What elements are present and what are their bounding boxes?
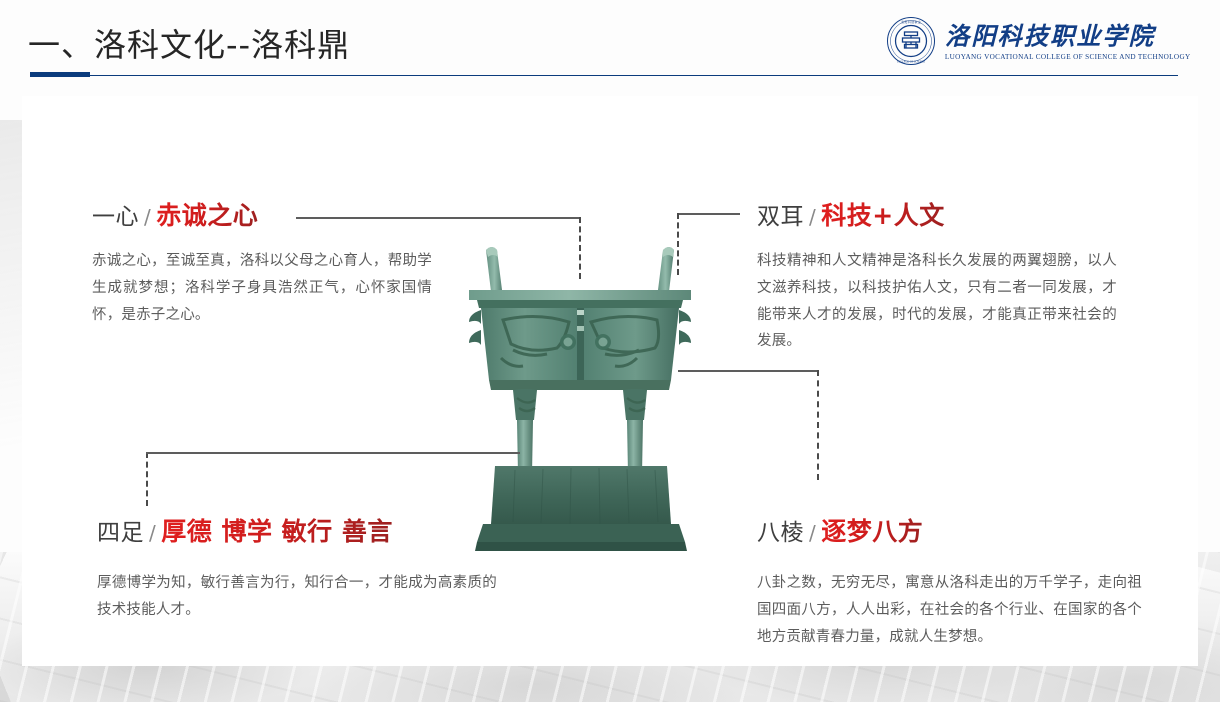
svg-text:COLLEGE OF SCIENCE: COLLEGE OF SCIENCE [897, 61, 926, 64]
callout-one-heart-separator: / [139, 205, 156, 229]
callout-one-heart-highlight: 赤诚之心 [156, 201, 258, 230]
callout-eight-edges-highlight: 逐梦八方 [821, 517, 923, 546]
callout-two-ears-heading: 双耳/科技+人文 [757, 196, 1117, 232]
callout-two-ears-separator: / [804, 205, 821, 229]
ding-rim [469, 290, 691, 308]
callout-eight-edges-body: 八卦之数，无穷无尽，寓意从洛科走出的万千学子，走向祖国四面八方，人人出彩，在社会… [757, 570, 1142, 650]
ding-pedestal [475, 466, 687, 551]
callout-four-feet: 四足/厚德 博学 敏行 善言 厚德博学为知，敏行善言为行，知行合一，才能成为高素… [97, 512, 497, 624]
callout-eight-edges-heading: 八棱/逐梦八方 [757, 512, 1142, 548]
slide-canvas: 一、洛科文化--洛科鼎 洛 阳 科 技 职 业 COLLEGE OF SCIEN… [0, 0, 1220, 702]
svg-text:洛 阳 科 技 职 业: 洛 阳 科 技 职 业 [901, 20, 921, 24]
ding-body [469, 308, 691, 390]
logo-name-en: LUOYANG VOCATIONAL COLLEGE OF SCIENCE AN… [945, 53, 1198, 61]
logo-wordmark: 洛阳科技职业学院 LUOYANG VOCATIONAL COLLEGE OF S… [945, 21, 1198, 61]
callout-two-ears-highlight: 科技+人文 [821, 201, 944, 230]
connector-top-right-vertical [677, 213, 679, 275]
callout-four-feet-body: 厚德博学为知，敏行善言为行，知行合一，才能成为高素质的技术技能人才。 [97, 570, 497, 624]
logo-name-cn-calligraphy: 洛阳科技职业学院 [945, 21, 1198, 51]
ding-leg-left [513, 389, 537, 478]
connector-top-right-horizontal [678, 213, 740, 215]
school-seal-icon: 洛 阳 科 技 职 业 COLLEGE OF SCIENCE [886, 16, 936, 66]
callout-two-ears-body: 科技精神和人文精神是洛科长久发展的两翼翅膀，以人文滋养科技，以科技护佑人文，只有… [757, 248, 1117, 355]
callout-eight-edges: 八棱/逐梦八方 八卦之数，无穷无尽，寓意从洛科走出的万千学子，走向祖国四面八方，… [757, 512, 1142, 650]
callout-one-heart-body: 赤诚之心，至诚至真，洛科以父母之心育人，帮助学生成就梦想；洛科学子身具浩然正气，… [92, 248, 432, 328]
title-underline-accent [30, 72, 90, 77]
connector-top-left-vertical [579, 217, 581, 279]
callout-four-feet-heading: 四足/厚德 博学 敏行 善言 [97, 512, 497, 548]
svg-text:洛阳科技职业学院: 洛阳科技职业学院 [945, 22, 1158, 50]
callout-one-heart-label: 一心 [92, 204, 139, 230]
school-logo: 洛 阳 科 技 职 业 COLLEGE OF SCIENCE 洛阳科技职业学院 … [886, 16, 1198, 66]
callout-one-heart-heading: 一心/赤诚之心 [92, 196, 432, 232]
callout-eight-edges-separator: / [804, 521, 821, 545]
connector-bottom-left-horizontal [146, 452, 520, 454]
callout-eight-edges-label: 八棱 [757, 520, 804, 546]
title-underline-thin [30, 75, 1178, 76]
connector-bottom-right-vertical [817, 370, 819, 480]
connector-bottom-left-vertical [146, 452, 148, 506]
page-title: 一、洛科文化--洛科鼎 [28, 20, 350, 66]
callout-four-feet-separator: / [144, 521, 161, 545]
callout-two-ears: 双耳/科技+人文 科技精神和人文精神是洛科长久发展的两翼翅膀，以人文滋养科技，以… [757, 196, 1117, 355]
ding-leg-right [623, 389, 647, 478]
callout-one-heart: 一心/赤诚之心 赤诚之心，至诚至真，洛科以父母之心育人，帮助学生成就梦想；洛科学… [92, 196, 432, 328]
callout-four-feet-label: 四足 [97, 520, 144, 546]
connector-bottom-right-horizontal [678, 370, 818, 372]
callout-two-ears-label: 双耳 [757, 204, 804, 230]
callout-four-feet-highlight: 厚德 博学 敏行 善言 [161, 517, 393, 546]
